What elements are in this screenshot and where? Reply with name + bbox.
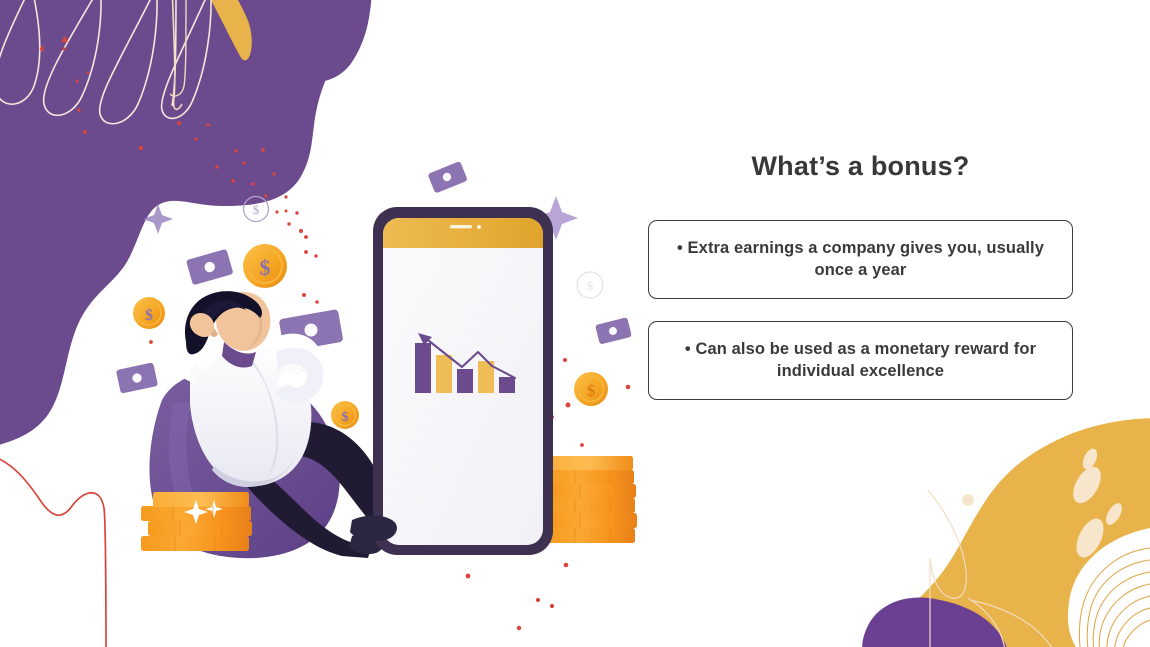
person-arm-right-2 [276, 348, 324, 403]
leaf-1 [1080, 447, 1100, 472]
phone-chart-bar-3 [457, 369, 473, 393]
cream-corner-line [170, 0, 186, 96]
coin-stack-left [141, 492, 252, 551]
coin-stack-right [545, 456, 637, 543]
person-hair [185, 291, 262, 354]
concentric-arc-lines [1079, 548, 1150, 647]
svg-text:$: $ [342, 410, 349, 425]
bullet-box-1[interactable]: • Extra earnings a company gives you, us… [648, 220, 1073, 299]
phone-frame [373, 207, 553, 555]
slide-canvas: $ $ $ [0, 0, 1150, 647]
person-foot-overlap [350, 516, 397, 542]
phone-screen [383, 218, 543, 545]
person-face-shadow [238, 296, 262, 348]
person-shirt-hem [212, 450, 298, 487]
beanbag-highlight [169, 400, 228, 534]
banknote-center [279, 309, 344, 352]
phone-topbar [383, 218, 543, 248]
svg-text:$: $ [145, 307, 153, 324]
bullet-text-2: • Can also be used as a monetary reward … [667, 339, 1054, 383]
person-ear [209, 327, 218, 337]
red-dot-cluster-upper [62, 47, 87, 134]
coin-outline-icon-2: $ [577, 272, 603, 298]
svg-text:$: $ [253, 202, 260, 217]
person-hand-behind-head [190, 313, 214, 337]
person-head [216, 292, 270, 351]
page-title: What’s a bonus? [648, 150, 1073, 182]
person-hair-front [201, 300, 246, 336]
gold-coin-right: $ [574, 372, 608, 406]
person-arm-upper [173, 321, 226, 370]
banknote-left-lower [116, 362, 158, 393]
cream-stem-lines [928, 490, 1058, 647]
coin-sparkle-center [495, 492, 521, 518]
purple-blob-top-left-lobe [281, 0, 372, 82]
content-panel: What’s a bonus? • Extra earnings a compa… [648, 150, 1073, 400]
coin-sparkle-left [184, 500, 208, 524]
smartphone [373, 207, 553, 555]
coin-outline-icon-1: $ [244, 197, 269, 222]
leaf-dot [962, 494, 974, 506]
leaf-3 [1103, 501, 1125, 528]
person-shoe-upper [390, 511, 423, 533]
phone-chart-trend-line [424, 337, 515, 378]
bullet-box-2[interactable]: • Can also be used as a monetary reward … [648, 321, 1073, 400]
coin-sparkle-left-2 [205, 500, 223, 518]
phone-chart-arrowhead [418, 333, 432, 345]
yellow-blob-bottom-right [876, 418, 1150, 647]
banknote-top [427, 161, 467, 194]
leaf-2 [1067, 462, 1106, 508]
sparkle-icon-phone-top [534, 196, 578, 240]
phone-speaker [450, 225, 472, 228]
gold-coin-upper-left: $ [243, 244, 287, 288]
leaf-4 [1071, 514, 1109, 561]
coin-stack-center [461, 484, 556, 543]
gold-coin-bottom-left: $ [331, 401, 359, 429]
yellow-blob-bottom-right-tail [930, 520, 1020, 647]
white-loop-lines [0, 0, 214, 124]
sparkle-icon-top-left [143, 204, 173, 234]
phone-camera [477, 225, 481, 229]
cream-hook-line [172, 0, 182, 109]
coin-outline-icon-3: $ [292, 370, 316, 394]
gold-coin-left: $ [133, 297, 165, 329]
svg-text:$: $ [301, 376, 307, 390]
phone-chart-bar-4 [478, 361, 494, 393]
phone-chart-bar-1 [415, 343, 431, 393]
person-shirt-fold [250, 360, 279, 480]
person-collar [222, 342, 256, 368]
purple-blob-top-left [0, 0, 343, 452]
yellow-crescent [200, 0, 252, 60]
beanbag [149, 370, 339, 558]
person-leg-lower [232, 452, 372, 558]
svg-text:$: $ [587, 381, 596, 400]
banknote-left-upper [186, 249, 234, 286]
person-legs [253, 422, 416, 538]
banknote-right [595, 317, 632, 344]
person-arm-right [270, 334, 322, 391]
person-shoe-lower [349, 533, 383, 554]
svg-text:$: $ [587, 278, 594, 293]
purple-blob-bottom-right [862, 598, 1010, 647]
cream-leaf-shapes [962, 447, 1125, 562]
phone-chart-bar-2 [436, 355, 452, 393]
phone-bar-chart [415, 333, 515, 393]
phone-chart-bar-5 [499, 377, 515, 393]
person-arm-lower [166, 338, 214, 384]
person-shirt [190, 338, 311, 486]
svg-text:$: $ [260, 255, 271, 280]
red-dot-cluster [40, 37, 631, 631]
red-curve-line [0, 452, 106, 647]
bullet-text-1: • Extra earnings a company gives you, us… [667, 238, 1054, 282]
white-notch [1068, 528, 1150, 647]
